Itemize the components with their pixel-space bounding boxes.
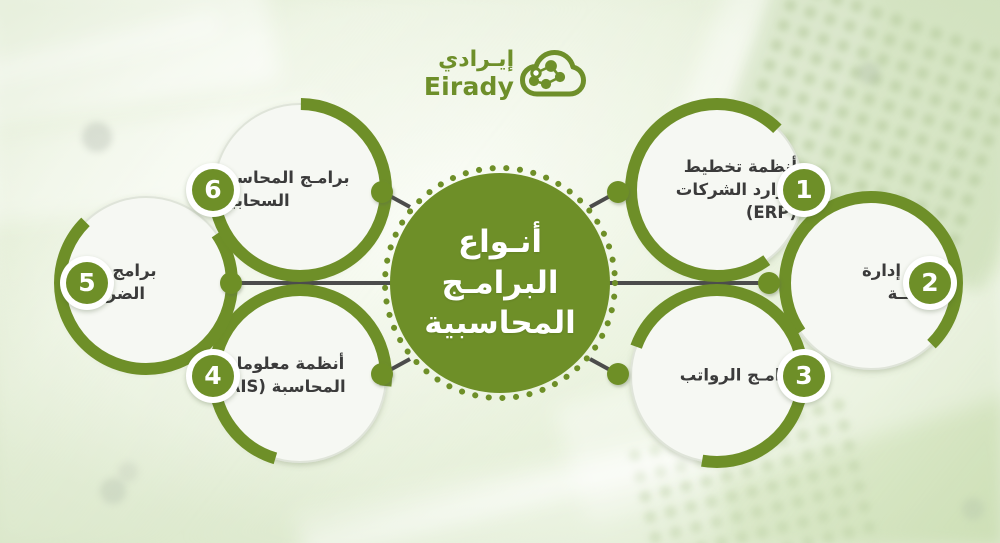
cloud-network-icon <box>520 49 586 99</box>
hub-center: أنـواع البرامـج المحاسبية <box>379 162 621 404</box>
brand-logo: إيـرادي Eirady <box>410 36 600 112</box>
node-3-label: برامـج الرواتب <box>647 365 797 388</box>
infographic-canvas: إيـرادي Eirady أنـواع البرامـج المحاسبي <box>0 0 1000 543</box>
node-3[interactable]: برامـج الرواتب 3 <box>621 280 813 472</box>
node-6-badge[interactable]: 6 <box>186 163 240 217</box>
node-5-badge[interactable]: 5 <box>60 256 114 310</box>
node-5-number: 5 <box>66 262 108 304</box>
node-3-badge[interactable]: 3 <box>777 349 831 403</box>
node-3-number: 3 <box>783 355 825 397</box>
brand-name-arabic: إيـرادي <box>438 49 514 71</box>
brand-name-latin: Eirady <box>424 74 514 99</box>
node-2-badge[interactable]: 2 <box>903 256 957 310</box>
hub-title: أنـواع البرامـج المحاسبية <box>390 222 610 345</box>
node-6-number: 6 <box>192 169 234 211</box>
hub-disc: أنـواع البرامـج المحاسبية <box>390 173 610 393</box>
node-2-number: 2 <box>909 262 951 304</box>
node-6[interactable]: برامـج المحاسبة السحابية 6 <box>204 94 396 286</box>
node-4-label: أنظمة معلومات المحاسبة (AIS) <box>220 353 370 399</box>
node-6-label: برامـج المحاسبة السحابية <box>220 167 370 213</box>
